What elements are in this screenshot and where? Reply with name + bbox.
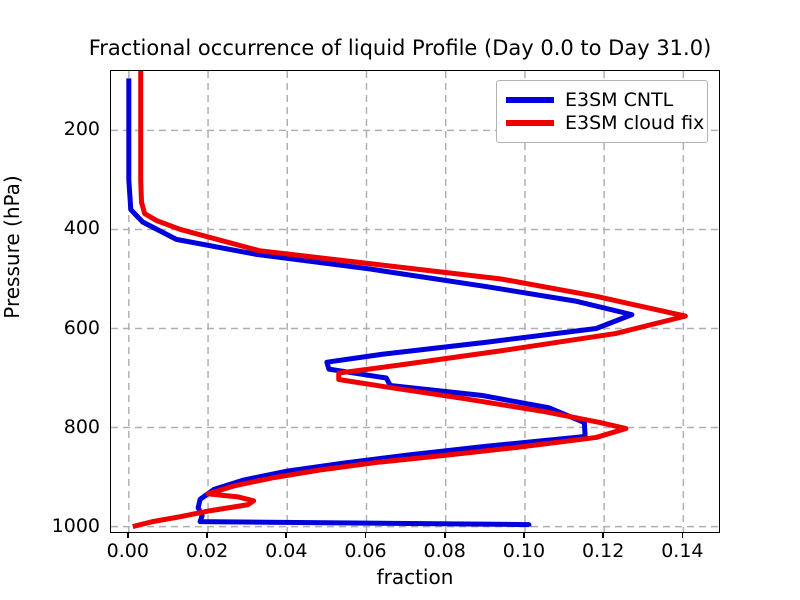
x-tick-label-1: 0.02 xyxy=(167,540,247,562)
y-axis-tick-marks xyxy=(0,70,110,533)
x-tick-mark-7 xyxy=(682,533,684,538)
x-tick-mark-0 xyxy=(127,533,129,538)
x-tick-mark-5 xyxy=(523,533,525,538)
legend-label-e3sm-cloud-fix: E3SM cloud fix xyxy=(565,112,704,134)
x-axis-tick-labels: 0.000.020.040.060.080.100.120.14 xyxy=(110,540,720,566)
x-tick-label-6: 0.12 xyxy=(563,540,643,562)
chart-legend: E3SM CNTL E3SM cloud fix xyxy=(496,80,708,143)
x-tick-mark-4 xyxy=(444,533,446,538)
legend-item-0[interactable]: E3SM CNTL xyxy=(506,88,698,111)
legend-item-1[interactable]: E3SM cloud fix xyxy=(506,111,698,134)
x-tick-label-4: 0.08 xyxy=(405,540,485,562)
x-tick-label-0: 0.00 xyxy=(88,540,168,562)
x-tick-mark-6 xyxy=(602,533,604,538)
chart-title: Fractional occurrence of liquid Profile … xyxy=(0,36,800,60)
legend-swatch-e3sm-cntl xyxy=(506,97,554,103)
x-axis-tick-marks xyxy=(110,533,720,539)
legend-label-e3sm-cntl: E3SM CNTL xyxy=(565,89,673,111)
legend-swatch-e3sm-cloud-fix xyxy=(506,120,554,126)
x-tick-mark-3 xyxy=(365,533,367,538)
chart-figure: Fractional occurrence of liquid Profile … xyxy=(0,0,800,600)
x-tick-label-2: 0.04 xyxy=(246,540,326,562)
x-tick-label-7: 0.14 xyxy=(642,540,722,562)
series-line-0 xyxy=(129,78,632,526)
x-axis-label: fraction xyxy=(110,565,720,589)
x-tick-label-3: 0.06 xyxy=(325,540,405,562)
x-tick-mark-1 xyxy=(206,533,208,538)
x-tick-label-5: 0.10 xyxy=(484,540,564,562)
x-tick-mark-2 xyxy=(285,533,287,538)
